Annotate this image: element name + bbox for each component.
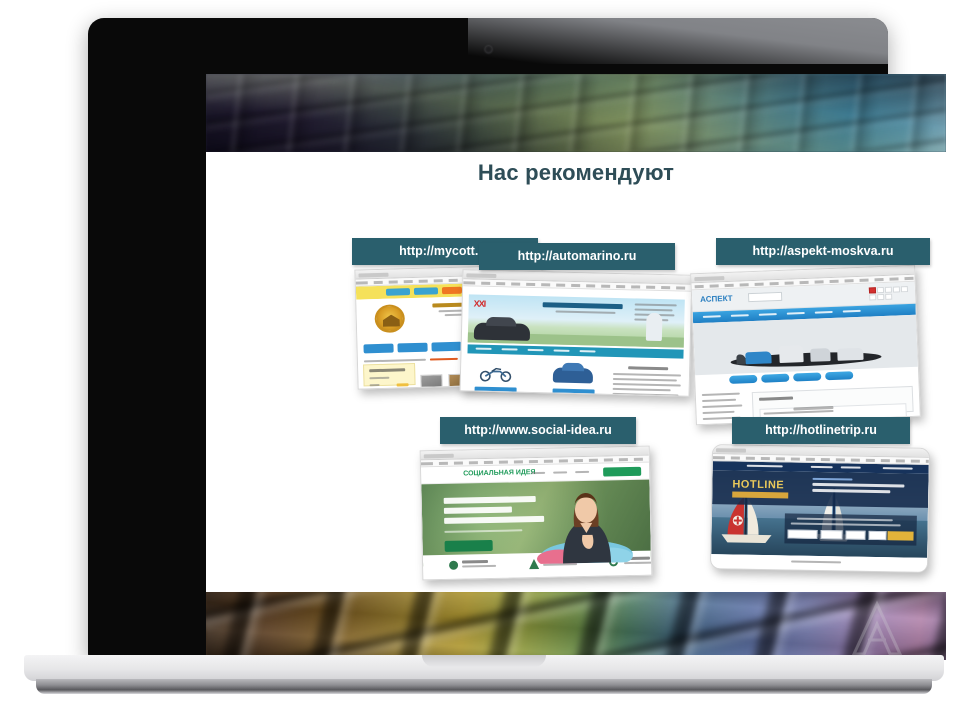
hero-headline (444, 496, 545, 537)
banner-bottom-keys (206, 592, 946, 660)
page-body: АСПЕКТ (692, 282, 920, 424)
browser-screenshot-hotlinetrip: HOTLINE (710, 444, 930, 573)
sidebar-panel (363, 363, 416, 386)
header-cta-button[interactable] (603, 467, 641, 477)
category-list (702, 392, 747, 420)
page-body: СОЦИАЛЬНАЯ ИДЕЯ (421, 463, 651, 580)
calendar-cell (901, 286, 908, 292)
nav-button (414, 287, 438, 295)
cta-button[interactable] (761, 374, 789, 383)
site-thumbnail-hotlinetrip[interactable]: HOTLINE (710, 444, 930, 573)
vehicle-item (837, 348, 863, 361)
nav-button (386, 288, 410, 296)
laptop-base (24, 655, 944, 699)
calendar-cell (869, 287, 876, 293)
blurred-keyboard-banner-bottom (206, 592, 946, 660)
logo-icon: АСПЕКТ (700, 294, 733, 304)
page-main (461, 356, 690, 396)
laptop-lid: Нас рекомендуют http://mycott.ru (88, 18, 888, 658)
webcam-dot-icon (485, 46, 492, 53)
page-title: Нас рекомендуют (206, 160, 946, 186)
blurred-keyboard-banner-top (206, 74, 946, 152)
car-hero-icon (474, 323, 530, 341)
site-hero: HOTLINE (711, 470, 928, 558)
search-field[interactable] (821, 530, 843, 539)
car-cta-button[interactable] (552, 388, 594, 395)
vehicle-item (737, 354, 746, 364)
house-logo-icon (374, 304, 405, 333)
url-badge-social-idea[interactable]: http://www.social-idea.ru (440, 417, 636, 444)
nav-button (442, 287, 462, 295)
info-text-column (612, 366, 683, 396)
hero-cta-button[interactable] (445, 540, 493, 552)
calendar-cell (877, 294, 884, 300)
logo-icon: XXI (474, 298, 486, 308)
action-button (363, 344, 393, 354)
calendar-cell (885, 287, 892, 293)
calendar-cell (877, 287, 884, 293)
action-button (397, 343, 427, 353)
url-badge-aspekt-moskva[interactable]: http://aspekt-moskva.ru (716, 238, 930, 265)
page-body: HOTLINE (711, 461, 929, 572)
calendar-cell (893, 286, 900, 292)
hero-banner: HOTLINE (712, 470, 929, 508)
search-submit-button[interactable] (888, 531, 914, 540)
calendar-cell (869, 294, 876, 300)
car-icon (553, 367, 593, 383)
listing-thumb (420, 374, 443, 388)
search-field[interactable] (846, 530, 866, 539)
search-field[interactable] (788, 529, 818, 539)
vehicle-item (746, 351, 772, 364)
logo-underline (732, 491, 788, 498)
browser-screenshot-aspekt-moskva: АСПЕКТ (690, 265, 921, 426)
laptop-base-edge (36, 679, 932, 694)
url-badge-hotlinetrip[interactable]: http://hotlinetrip.ru (732, 417, 910, 444)
laptop-mockup: Нас рекомендуют http://mycott.ru (0, 0, 960, 720)
laptop-screen: Нас рекомендуют http://mycott.ru (206, 74, 946, 660)
site-hero (421, 480, 651, 567)
page-body: XXI (461, 286, 691, 396)
search-field[interactable] (869, 531, 887, 540)
cta-button[interactable] (825, 371, 853, 380)
browser-screenshot-social-idea: СОЦИАЛЬНАЯ ИДЕЯ (420, 446, 653, 581)
action-button (431, 342, 461, 352)
calendar-widget (869, 286, 910, 302)
site-thumbnail-automarino[interactable]: XXI (460, 269, 693, 397)
tower-landmark-icon (646, 313, 663, 341)
site-thumbnail-social-idea[interactable]: СОЦИАЛЬНАЯ ИДЕЯ (420, 446, 653, 581)
site-thumbnail-aspekt-moskva[interactable]: АСПЕКТ (690, 265, 921, 426)
cta-button[interactable] (793, 372, 821, 381)
moto-cta-button[interactable] (475, 387, 517, 394)
vehicle-item (779, 345, 804, 363)
vehicle-fleet-icon (693, 315, 918, 376)
motorcycle-icon (479, 365, 513, 383)
bezel-glare (468, 18, 888, 64)
cta-button[interactable] (729, 375, 757, 384)
browser-screenshot-automarino: XXI (460, 269, 693, 397)
slide-content: Нас рекомендуют http://mycott.ru (206, 152, 946, 592)
calendar-cell (885, 294, 892, 300)
woman-photo-icon (535, 486, 633, 564)
logo-icon: СОЦИАЛЬНАЯ ИДЕЯ (463, 469, 535, 478)
laptop-base-top (24, 655, 944, 681)
laptop-base-notch (422, 655, 546, 667)
site-logo: HOTLINE (732, 478, 784, 491)
site-footer (711, 554, 927, 572)
search-form[interactable] (785, 513, 917, 545)
banner-top-sheen (206, 74, 946, 152)
url-badge-automarino[interactable]: http://automarino.ru (479, 243, 675, 270)
site-hero: XXI (468, 294, 685, 347)
search-input[interactable] (748, 292, 782, 302)
vehicle-item (810, 348, 830, 362)
content-panel (752, 386, 914, 418)
